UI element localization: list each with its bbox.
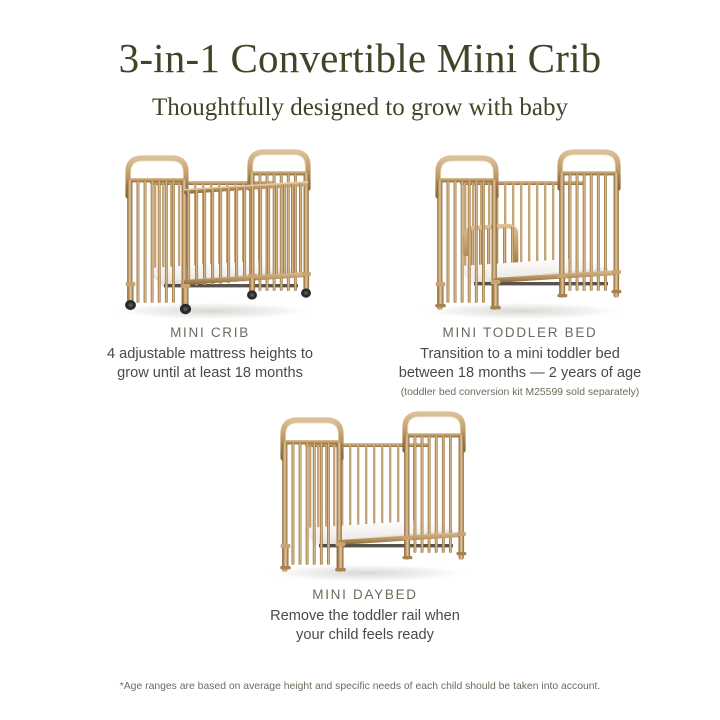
footnote: *Age ranges are based on average height … <box>0 680 720 694</box>
caption-note: (toddler bed conversion kit M25599 sold … <box>330 386 710 400</box>
floor-shadow <box>263 564 471 582</box>
caption-mini-daybed: MINI DAYBED Remove the toddler rail when… <box>175 586 555 645</box>
caster-wheel <box>301 288 311 297</box>
caption-title: MINI TODDLER BED <box>330 324 710 342</box>
infographic-page: 3-in-1 Convertible Mini Crib Thoughtfull… <box>0 0 720 720</box>
product-panel-mini-daybed: MINI DAYBED Remove the toddler rail when… <box>175 410 555 645</box>
mini-toddler-bed-illustration <box>402 148 638 320</box>
daybed-left-end-panel <box>282 420 342 572</box>
mini-daybed-illustration <box>247 410 483 582</box>
floor-shadow <box>108 302 316 320</box>
mini-crib-illustration <box>92 148 328 320</box>
page-title: 3-in-1 Convertible Mini Crib <box>0 34 720 82</box>
page-subtitle: Thoughtfully designed to grow with baby <box>0 92 720 124</box>
header: 3-in-1 Convertible Mini Crib Thoughtfull… <box>0 34 720 124</box>
caption-body: Remove the toddler rail when your child … <box>175 607 555 645</box>
caster-wheel <box>125 300 136 310</box>
caption-body: Transition to a mini toddler bed between… <box>330 345 710 383</box>
floor-shadow <box>418 302 626 320</box>
product-panel-mini-toddler-bed: MINI TODDLER BED Transition to a mini to… <box>330 148 710 400</box>
caster-wheel <box>180 304 191 314</box>
caption-title: MINI DAYBED <box>175 586 555 604</box>
caster-wheel <box>247 290 257 299</box>
caption-mini-toddler-bed: MINI TODDLER BED Transition to a mini to… <box>330 324 710 400</box>
